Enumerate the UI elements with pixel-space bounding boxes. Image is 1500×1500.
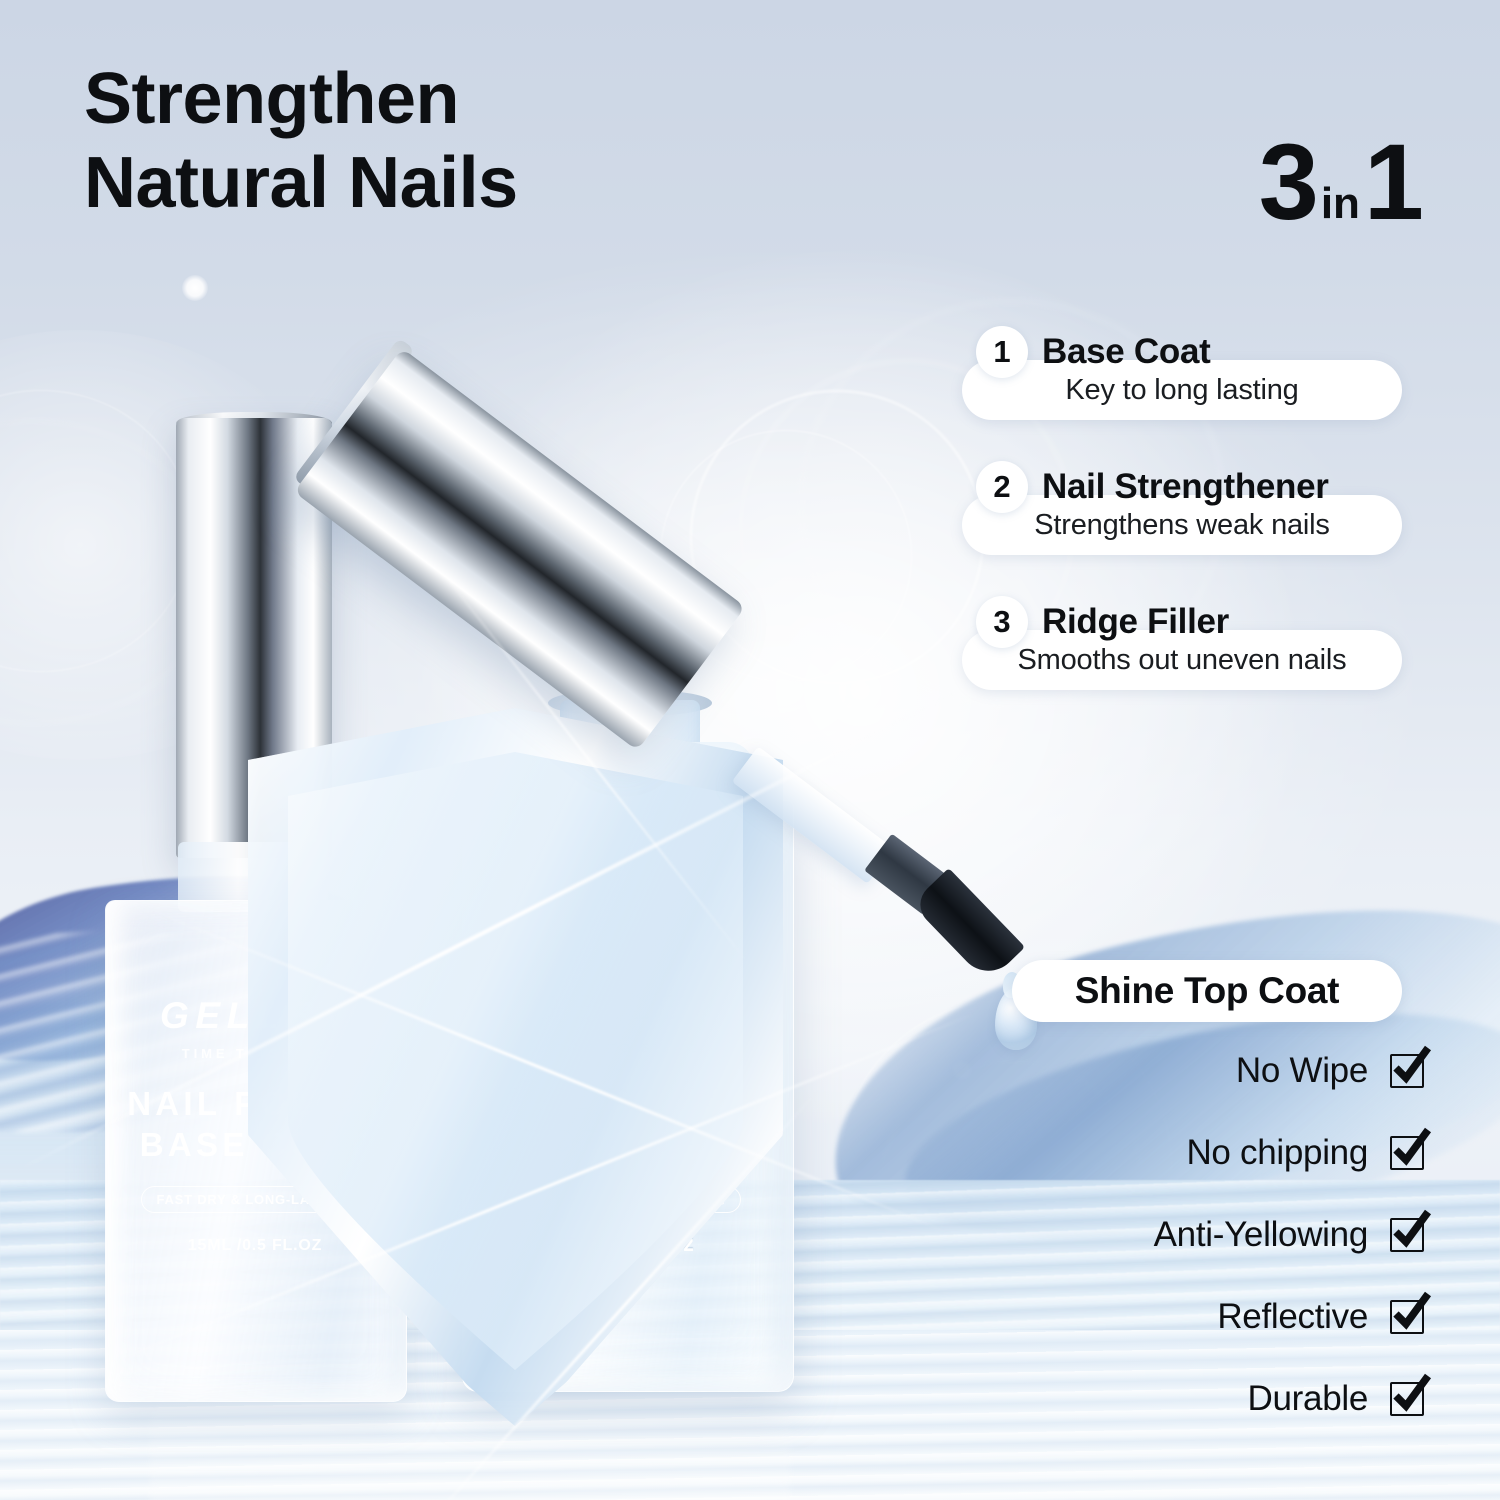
feature-subtitle: Key to long lasting [1065,374,1298,407]
feature-item-nail-strengthener: 2 Nail Strengthener Strengthens weak nai… [962,461,1402,555]
feature-number-badge: 2 [976,461,1028,513]
badge-number-1: 1 [1364,128,1422,236]
badge-number-3: 3 [1259,128,1317,236]
shine-top-coat-title: Shine Top Coat [1075,970,1339,1012]
checklist-label: Durable [1248,1379,1368,1419]
feature-item-base-coat: 1 Base Coat Key to long lasting [962,326,1402,420]
feature-title: Nail Strengthener [1042,467,1329,507]
feature-list: 1 Base Coat Key to long lasting 2 Nail S… [962,326,1402,690]
bokeh-dot-1 [182,275,208,301]
checklist-label: No chipping [1186,1133,1368,1173]
checklist-item-no-wipe: No Wipe [1004,1048,1424,1093]
feature-number-badge: 1 [976,326,1028,378]
feature-number-badge: 3 [976,596,1028,648]
checklist-item-anti-yellowing: Anti-Yellowing [1004,1212,1424,1257]
product-hero-image: GELLEN TIME TO SHINE NAIL POLISH BASE CO… [0,0,1500,1500]
feature-title: Ridge Filler [1042,602,1229,642]
checklist-label: Reflective [1217,1297,1368,1337]
benefits-checklist: No Wipe No chipping Anti-Yellowing Refle… [1004,1048,1424,1421]
feature-header: 3 Ridge Filler [962,596,1402,648]
feature-header: 2 Nail Strengthener [962,461,1402,513]
checklist-label: Anti-Yellowing [1154,1215,1368,1255]
checkbox-checked-icon [1390,1382,1424,1416]
feature-item-ridge-filler: 3 Ridge Filler Smooths out uneven nails [962,596,1402,690]
shine-top-coat-pill: Shine Top Coat [1012,960,1402,1022]
headline-line-1: Strengthen [84,58,518,142]
checkbox-checked-icon [1390,1054,1424,1088]
checklist-label: No Wipe [1236,1051,1368,1091]
checklist-item-durable: Durable [1004,1376,1424,1421]
checklist-item-reflective: Reflective [1004,1294,1424,1339]
feature-title: Base Coat [1042,332,1210,372]
headline-line-2: Natural Nails [84,142,518,226]
checkbox-checked-icon [1390,1218,1424,1252]
three-in-one-badge: 3 in 1 [1259,128,1422,236]
page-title: Strengthen Natural Nails [84,58,518,225]
checkbox-checked-icon [1390,1300,1424,1334]
checkbox-checked-icon [1390,1136,1424,1170]
badge-in-text: in [1317,182,1364,236]
feature-subtitle: Smooths out uneven nails [1018,644,1347,677]
bottle-reflection [150,1395,790,1500]
checklist-item-no-chipping: No chipping [1004,1130,1424,1175]
feature-subtitle: Strengthens weak nails [1034,509,1329,542]
feature-header: 1 Base Coat [962,326,1402,378]
